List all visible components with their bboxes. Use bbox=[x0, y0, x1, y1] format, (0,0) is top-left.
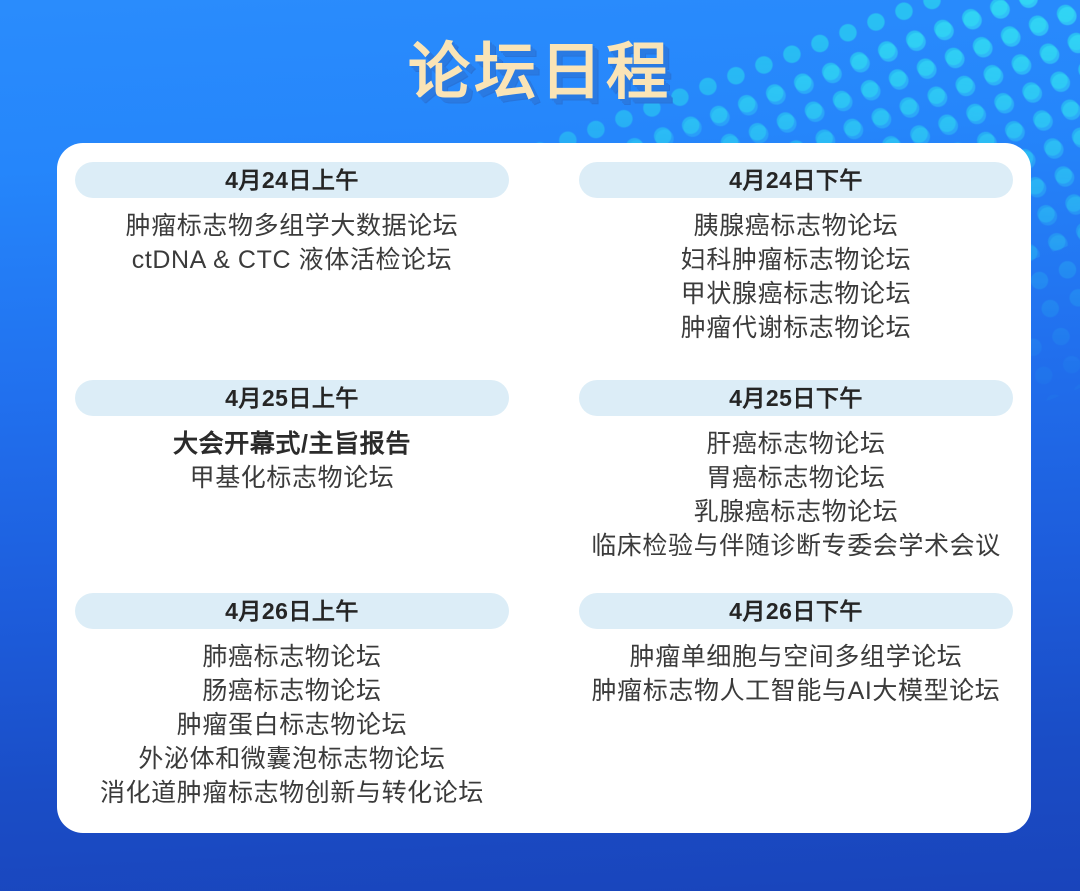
schedule-item: 肝癌标志物论坛 bbox=[579, 427, 1013, 461]
schedule-block-header: 4月25日下午 bbox=[579, 380, 1013, 416]
schedule-item: 外泌体和微囊泡标志物论坛 bbox=[75, 742, 509, 776]
schedule-item: 乳腺癌标志物论坛 bbox=[579, 495, 1013, 529]
schedule-block: 4月26日上午肺癌标志物论坛肠癌标志物论坛肿瘤蛋白标志物论坛外泌体和微囊泡标志物… bbox=[75, 593, 509, 810]
schedule-item: 消化道肿瘤标志物创新与转化论坛 bbox=[75, 776, 509, 810]
schedule-item: 肺癌标志物论坛 bbox=[75, 640, 509, 674]
schedule-block-header: 4月26日上午 bbox=[75, 593, 509, 629]
schedule-grid: 4月24日上午肿瘤标志物多组学大数据论坛ctDNA & CTC 液体活检论坛4月… bbox=[75, 162, 1013, 810]
page-title: 论坛日程 bbox=[408, 41, 672, 103]
schedule-item: ctDNA & CTC 液体活检论坛 bbox=[75, 243, 509, 277]
schedule-block: 4月25日下午肝癌标志物论坛胃癌标志物论坛乳腺癌标志物论坛临床检验与伴随诊断专委… bbox=[579, 380, 1013, 593]
schedule-block: 4月26日下午肿瘤单细胞与空间多组学论坛肿瘤标志物人工智能与AI大模型论坛 bbox=[579, 593, 1013, 810]
schedule-item: 肿瘤标志物多组学大数据论坛 bbox=[75, 209, 509, 243]
schedule-item-list: 大会开幕式/主旨报告甲基化标志物论坛 bbox=[75, 427, 509, 495]
schedule-block-header: 4月25日上午 bbox=[75, 380, 509, 416]
schedule-block: 4月24日上午肿瘤标志物多组学大数据论坛ctDNA & CTC 液体活检论坛 bbox=[75, 162, 509, 380]
schedule-item: 肿瘤标志物人工智能与AI大模型论坛 bbox=[579, 674, 1013, 708]
schedule-item: 甲基化标志物论坛 bbox=[75, 461, 509, 495]
schedule-item: 胃癌标志物论坛 bbox=[579, 461, 1013, 495]
schedule-block-header: 4月26日下午 bbox=[579, 593, 1013, 629]
schedule-item: 妇科肿瘤标志物论坛 bbox=[579, 243, 1013, 277]
schedule-item: 肠癌标志物论坛 bbox=[75, 674, 509, 708]
schedule-item-list: 胰腺癌标志物论坛妇科肿瘤标志物论坛甲状腺癌标志物论坛肿瘤代谢标志物论坛 bbox=[579, 209, 1013, 345]
forum-schedule-poster: 论坛日程 4月24日上午肿瘤标志物多组学大数据论坛ctDNA & CTC 液体活… bbox=[0, 0, 1080, 891]
schedule-item-list: 肿瘤标志物多组学大数据论坛ctDNA & CTC 液体活检论坛 bbox=[75, 209, 509, 277]
schedule-item: 胰腺癌标志物论坛 bbox=[579, 209, 1013, 243]
schedule-item-list: 肺癌标志物论坛肠癌标志物论坛肿瘤蛋白标志物论坛外泌体和微囊泡标志物论坛消化道肿瘤… bbox=[75, 640, 509, 810]
schedule-item: 临床检验与伴随诊断专委会学术会议 bbox=[579, 529, 1013, 563]
schedule-block-header: 4月24日下午 bbox=[579, 162, 1013, 198]
title-banner: 论坛日程 bbox=[0, 0, 1080, 143]
schedule-item: 肿瘤代谢标志物论坛 bbox=[579, 311, 1013, 345]
schedule-item-list: 肿瘤单细胞与空间多组学论坛肿瘤标志物人工智能与AI大模型论坛 bbox=[579, 640, 1013, 708]
schedule-block-header: 4月24日上午 bbox=[75, 162, 509, 198]
schedule-item: 肿瘤单细胞与空间多组学论坛 bbox=[579, 640, 1013, 674]
schedule-item: 甲状腺癌标志物论坛 bbox=[579, 277, 1013, 311]
schedule-item: 大会开幕式/主旨报告 bbox=[75, 427, 509, 461]
schedule-item: 肿瘤蛋白标志物论坛 bbox=[75, 708, 509, 742]
schedule-card: 4月24日上午肿瘤标志物多组学大数据论坛ctDNA & CTC 液体活检论坛4月… bbox=[57, 143, 1031, 833]
schedule-block: 4月24日下午胰腺癌标志物论坛妇科肿瘤标志物论坛甲状腺癌标志物论坛肿瘤代谢标志物… bbox=[579, 162, 1013, 380]
schedule-block: 4月25日上午大会开幕式/主旨报告甲基化标志物论坛 bbox=[75, 380, 509, 593]
schedule-item-list: 肝癌标志物论坛胃癌标志物论坛乳腺癌标志物论坛临床检验与伴随诊断专委会学术会议 bbox=[579, 427, 1013, 563]
